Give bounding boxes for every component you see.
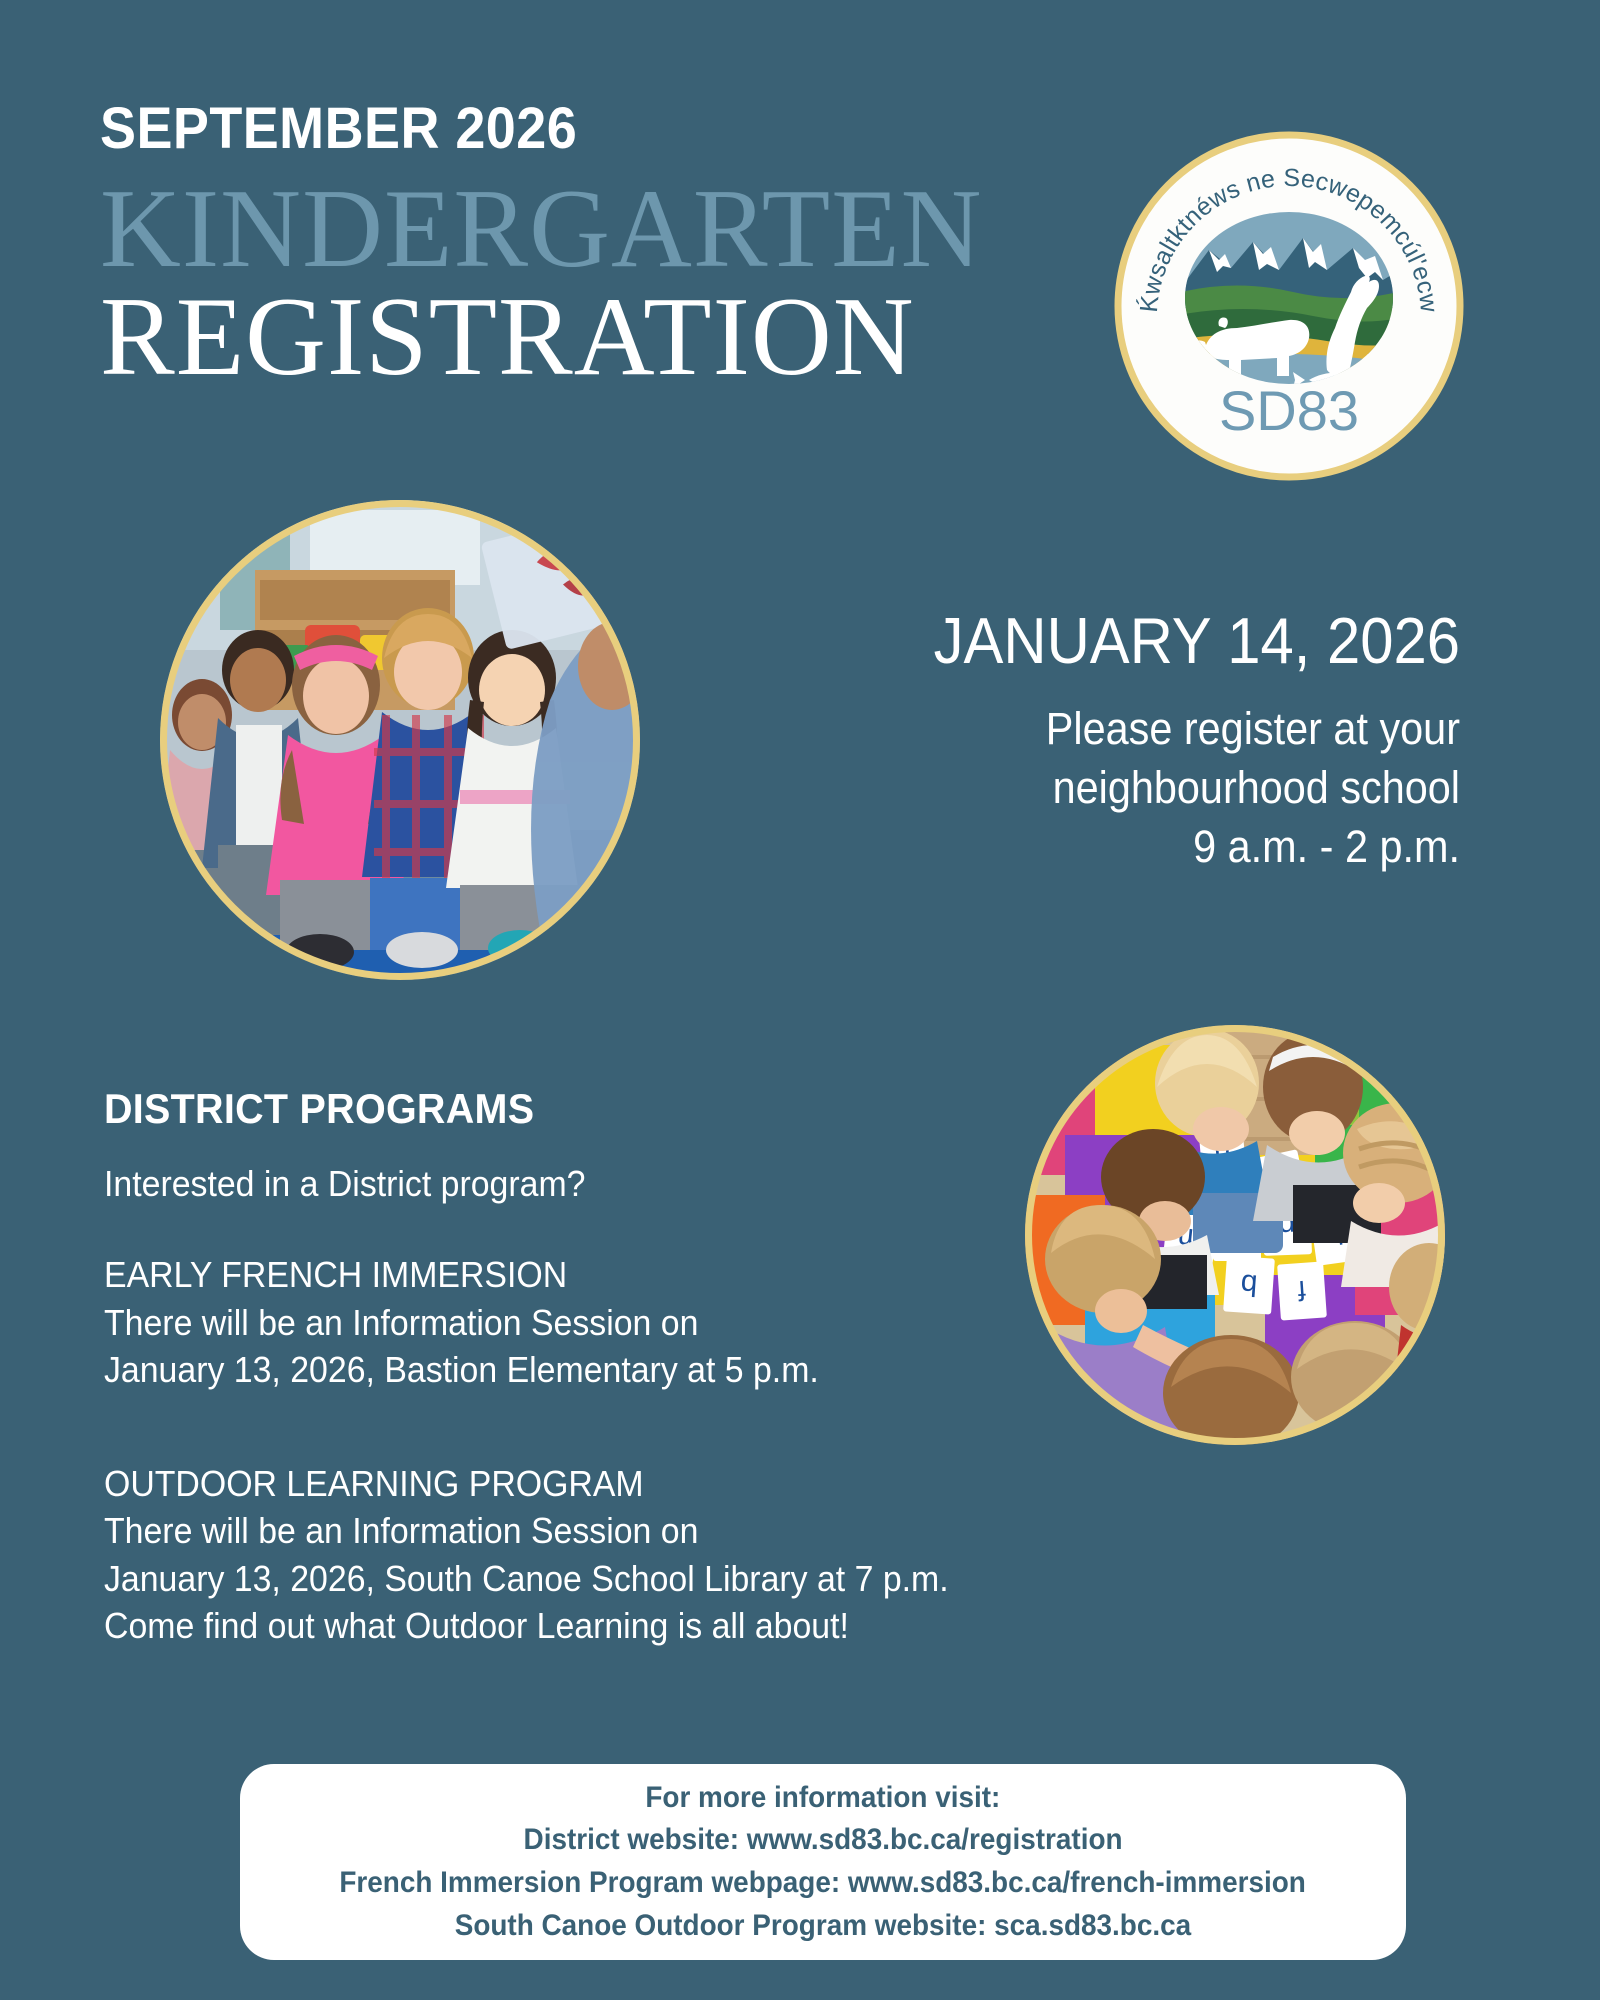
page-title-kindergarten: KINDERGARTEN [100,172,1080,286]
district-programs-heading: DISTRICT PROGRAMS [104,1085,978,1133]
page-title-registration: REGISTRATION [100,280,1080,394]
instruction-line-2: neighbourhood school [834,758,1460,817]
instruction-line-1: Please register at your [834,699,1460,758]
program-early-french-immersion: EARLY FRENCH IMMERSION There will be an … [104,1251,1034,1394]
footer-link-district[interactable]: District website: www.sd83.bc.ca/registr… [523,1819,1122,1862]
event-date: JANUARY 14, 2026 [834,605,1460,677]
district-programs-intro: Interested in a District program? [104,1163,978,1205]
registration-hours: 9 a.m. - 2 p.m. [834,817,1460,876]
program-title: OUTDOOR LEARNING PROGRAM [104,1460,978,1508]
registration-instructions: Please register at your neighbourhood sc… [834,699,1460,877]
month-year-label: SEPTEMBER 2026 [100,100,1011,158]
program-line-1: There will be an Information Session on [104,1299,978,1347]
footer-link-south-canoe[interactable]: South Canoe Outdoor Program website: sca… [455,1905,1191,1948]
program-line-1: There will be an Information Session on [104,1507,978,1555]
footer-line-intro: For more information visit: [646,1777,1001,1820]
program-line-2: January 13, 2026, Bastion Elementary at … [104,1346,978,1394]
footer-link-french-immersion[interactable]: French Immersion Program webpage: www.sd… [340,1862,1306,1905]
more-information-box: For more information visit: District web… [240,1764,1406,1960]
svg-text:b: b [1240,1267,1259,1301]
district-programs-section: DISTRICT PROGRAMS Interested in a Distri… [104,1085,1034,1650]
program-line-3: Come find out what Outdoor Learning is a… [104,1602,978,1650]
logo-district-code: SD83 [1219,379,1359,442]
photo-kids-classroom [160,500,640,980]
sd83-logo: Ḱwsaltktnéws ne Secwepemcúl'ecw SD83 [1113,130,1465,482]
date-block: JANUARY 14, 2026 Please register at your… [780,605,1460,877]
photo-letter-activity: n s m m p k b f [1025,1025,1445,1445]
header-title-block: SEPTEMBER 2026 KINDERGARTEN REGISTRATION [100,100,1080,394]
poster-root: SEPTEMBER 2026 KINDERGARTEN REGISTRATION [0,0,1600,2000]
program-outdoor-learning: OUTDOOR LEARNING PROGRAM There will be a… [104,1460,1034,1650]
program-line-2: January 13, 2026, South Canoe School Lib… [104,1555,978,1603]
program-title: EARLY FRENCH IMMERSION [104,1251,978,1299]
